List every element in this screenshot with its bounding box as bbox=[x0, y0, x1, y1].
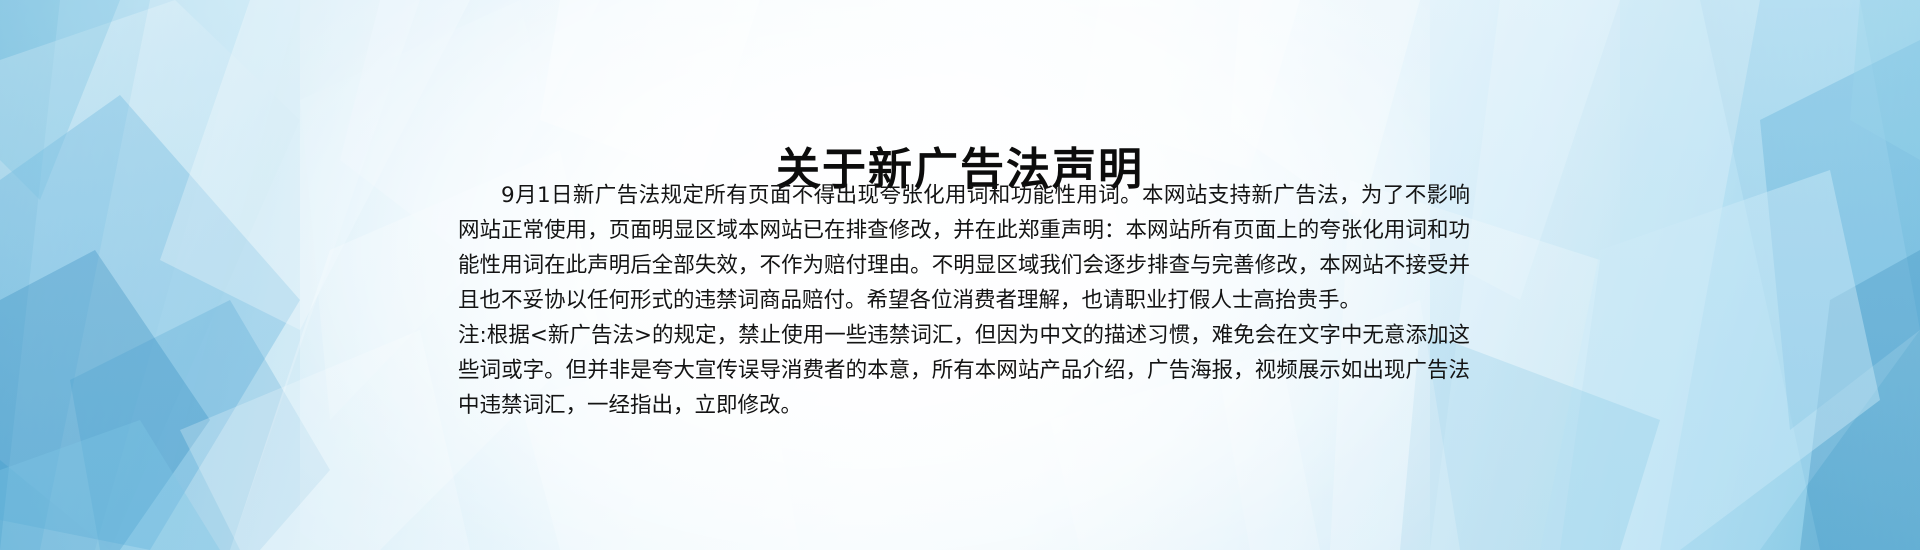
statement-paragraph-1: 9月1日新广告法规定所有页面不得出现夸张化用词和功能性用词。本网站支持新广告法，… bbox=[458, 178, 1470, 318]
statement-paragraph-2: 注:根据<新广告法>的规定，禁止使用一些违禁词汇，但因为中文的描述习惯，难免会在… bbox=[458, 318, 1470, 423]
advertising-law-banner: 关于新广告法声明 9月1日新广告法规定所有页面不得出现夸张化用词和功能性用词。本… bbox=[0, 0, 1920, 550]
statement-body: 9月1日新广告法规定所有页面不得出现夸张化用词和功能性用词。本网站支持新广告法，… bbox=[458, 178, 1470, 423]
banner-text-container: 关于新广告法声明 9月1日新广告法规定所有页面不得出现夸张化用词和功能性用词。本… bbox=[0, 0, 1920, 550]
